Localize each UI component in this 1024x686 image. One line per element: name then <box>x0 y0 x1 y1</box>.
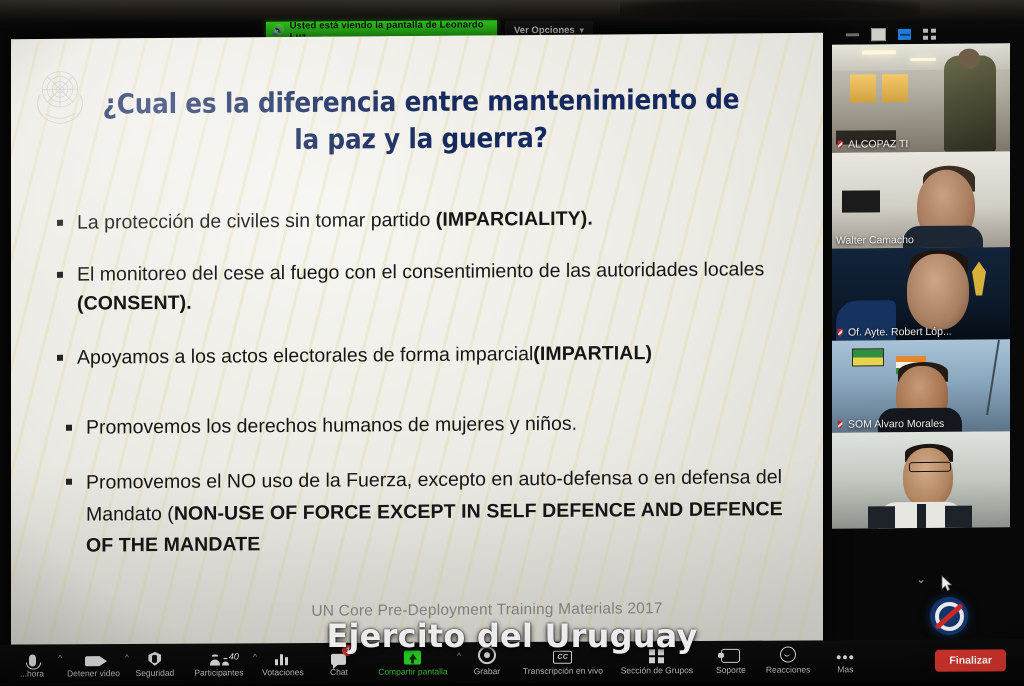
monitor-photo: 🔊 Usted está viendo la pantalla de Leona… <box>0 0 1024 683</box>
shield-icon <box>148 651 161 666</box>
participant-name: Walter Camacho <box>836 234 914 247</box>
slide-bullet-item: El monitoreo del cese al fuego con el co… <box>57 255 802 317</box>
bullet-text: La protección de civiles sin tomar parti… <box>77 203 802 237</box>
bullet-square-icon <box>57 272 63 278</box>
zoom-meeting-window: 🔊 Usted está viendo la pantalla de Leona… <box>0 30 1024 645</box>
toolbar-button-share-screen[interactable]: Compartir pantalla ^ <box>367 642 459 683</box>
closed-caption-icon: CC <box>553 649 572 664</box>
participant-count: 40 <box>229 651 239 661</box>
microphone-muted-icon <box>836 420 844 429</box>
gallery-view-icon[interactable] <box>923 29 936 40</box>
tile-scene <box>882 74 908 102</box>
toolbar-button-record[interactable]: Grabar <box>459 642 515 683</box>
tile-scene <box>972 261 986 295</box>
toolbar-label: Soporte <box>716 665 746 675</box>
tile-scene <box>917 504 926 528</box>
ceiling-shadow <box>620 0 920 18</box>
toolbar-button-security[interactable]: Seguridad <box>127 644 183 685</box>
toolbar-label: Sección de Grupos <box>621 665 693 675</box>
shared-slide: ¿Cual es la diferencia entre mantenimien… <box>11 33 823 647</box>
toolbar-button-chat[interactable]: 1 Chat <box>311 643 367 684</box>
slide-title-line-1: ¿Cual es la diferencia entre mantenimien… <box>71 81 771 123</box>
toolbar-button-more[interactable]: ••• Mas <box>817 640 873 681</box>
more-icon: ••• <box>836 647 855 662</box>
camera-icon <box>85 651 101 666</box>
participant-tile[interactable]: Of. Ayte. Robert Lóp... <box>832 247 1010 340</box>
bullet-text: Promovemos el NO uso de la Fuerza, excep… <box>86 462 802 562</box>
toolbar-label: Participantes <box>194 667 243 677</box>
toolbar-button-reactions[interactable]: Reacciones <box>759 640 817 681</box>
toolbar-button-stop-video[interactable]: Detener video ^ <box>60 644 127 685</box>
window-controls <box>846 28 936 42</box>
microphone-muted-icon <box>836 140 844 149</box>
bullet-square-icon <box>66 479 72 485</box>
toolbar-button-participants[interactable]: 40 Participantes ^ <box>183 643 255 684</box>
toolbar-button-live-transcript[interactable]: CC Transcripción en vivo <box>515 641 611 683</box>
record-icon <box>478 649 496 664</box>
toolbar-label: Reacciones <box>766 664 810 674</box>
microphone-muted-icon <box>836 328 844 337</box>
slide-footer: UN Core Pre-Deployment Training Material… <box>257 600 717 622</box>
breakout-rooms-icon <box>649 648 664 663</box>
participants-filmstrip: ALCOPAZ TI Walter Camacho Of. Ayte. Robe… <box>832 43 1010 572</box>
slide-bullet-item: Apoyamos a los actos electorales de form… <box>57 338 802 372</box>
participant-tile[interactable] <box>832 431 1010 528</box>
participant-name: Of. Ayte. Robert Lóp... <box>836 326 952 339</box>
toolbar-button-support[interactable]: Soporte <box>703 641 759 682</box>
participant-tile[interactable]: SOM Alvaro Morales <box>832 339 1010 432</box>
toolbar-button-breakout-rooms[interactable]: Sección de Grupos <box>611 641 703 682</box>
toolbar-label: ...hora <box>20 668 44 678</box>
tile-scene <box>842 190 880 212</box>
bullet-square-icon <box>57 355 63 361</box>
tile-scene <box>944 55 996 151</box>
chevron-down-icon: ▾ <box>580 26 584 35</box>
tile-scene <box>903 226 983 249</box>
toolbar-label: Seguridad <box>136 668 175 678</box>
toolbar-label: Mas <box>837 664 853 674</box>
end-meeting-button[interactable]: Finalizar <box>935 649 1006 671</box>
tile-scene <box>909 462 951 472</box>
toolbar-label: Detener video <box>67 668 120 678</box>
participant-tile[interactable]: Walter Camacho <box>832 151 1010 248</box>
tile-scene <box>852 348 884 366</box>
participant-tile[interactable]: ALCOPAZ TI <box>832 43 1010 152</box>
toolbar-label: Transcripción en vivo <box>523 666 603 676</box>
video-disabled-indicator <box>930 597 968 635</box>
bullet-square-icon <box>66 425 72 431</box>
tile-scene <box>907 254 969 330</box>
bullet-text: Promovemos los derechos humanos de mujer… <box>86 408 802 442</box>
polls-icon <box>275 650 290 665</box>
share-screen-icon <box>404 649 421 664</box>
meeting-toolbar: ...hora ^ Detener video ^ Seguridad 40 P… <box>0 639 1024 685</box>
slide-bullet-item: La protección de civiles sin tomar parti… <box>57 203 802 237</box>
minimize-icon[interactable] <box>846 33 859 36</box>
toolbar-button-mute[interactable]: ...hora ^ <box>4 644 60 685</box>
chevron-down-icon[interactable]: ⌄ <box>832 571 1010 586</box>
bullet-square-icon <box>57 220 63 226</box>
tile-scene <box>862 50 896 54</box>
tile-scene <box>910 58 936 61</box>
bullet-text: Apoyamos a los actos electorales de form… <box>77 338 802 372</box>
screen-view-icon[interactable] <box>871 28 886 41</box>
slide-title-line-2: la paz y la guerra? <box>71 118 771 160</box>
support-icon <box>721 648 740 663</box>
chat-unread-badge: 1 <box>342 645 353 656</box>
speaker-icon: 🔊 <box>272 26 285 36</box>
toolbar-label: Chat <box>330 667 348 677</box>
toolbar-label: Votaciones <box>262 667 304 677</box>
chat-icon: 1 <box>331 650 346 665</box>
tile-scene <box>986 340 1000 415</box>
tile-scene <box>850 74 876 102</box>
reactions-icon <box>780 648 796 663</box>
toolbar-button-polls[interactable]: Votaciones <box>255 643 311 684</box>
slide-bullet-item: Promovemos el NO uso de la Fuerza, excep… <box>57 462 802 563</box>
microphone-icon <box>29 651 36 666</box>
participant-name: SOM Alvaro Morales <box>836 418 944 431</box>
people-icon: 40 <box>209 650 229 665</box>
slide-bullet-list: La protección de civiles sin tomar parti… <box>57 203 802 585</box>
toolbar-label: Compartir pantalla <box>378 666 447 676</box>
tile-scene <box>903 448 953 508</box>
speaker-view-icon[interactable] <box>898 29 911 40</box>
slide-bullet-item: Promovemos los derechos humanos de mujer… <box>57 408 802 442</box>
slide-title: ¿Cual es la diferencia entre mantenimien… <box>71 81 771 160</box>
participant-name: ALCOPAZ TI <box>836 138 908 151</box>
toolbar-label: Grabar <box>474 666 500 676</box>
bullet-text: El monitoreo del cese al fuego con el co… <box>77 255 802 317</box>
